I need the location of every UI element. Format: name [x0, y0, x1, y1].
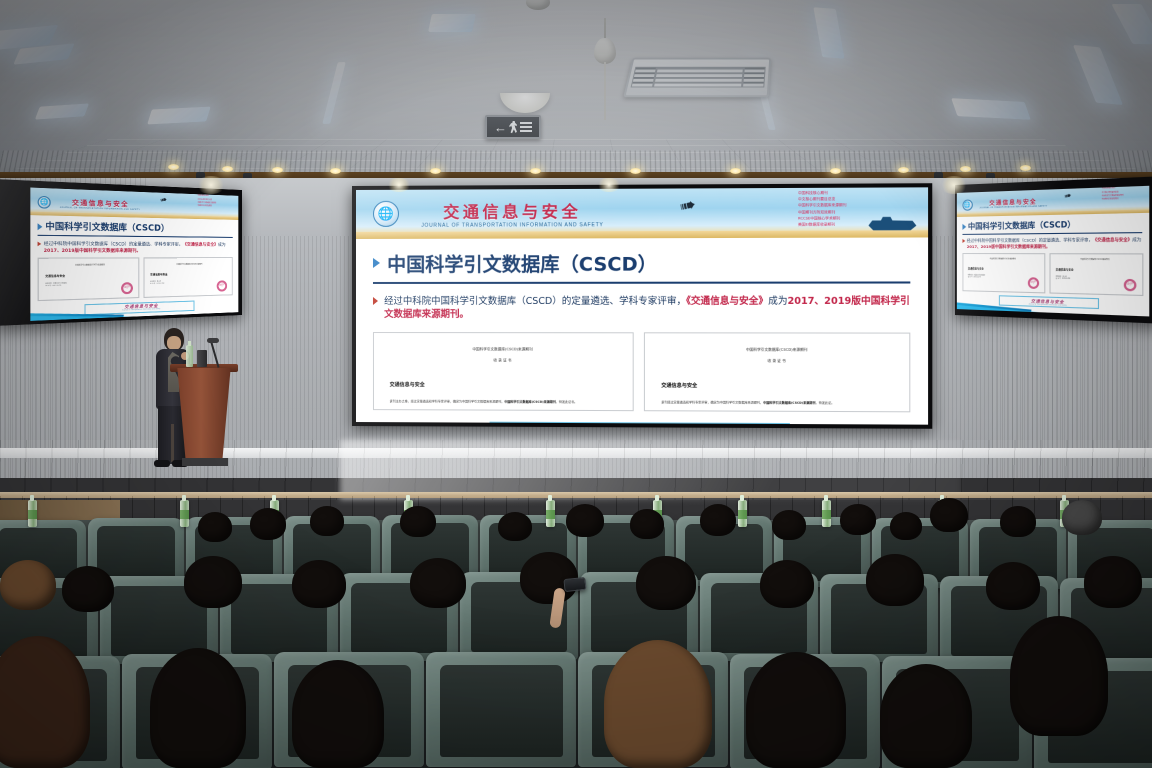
podium-base [182, 458, 228, 466]
title-underline [37, 235, 232, 238]
bottle-label [180, 510, 189, 519]
right-side-screen: 🌐 交通信息与安全 JOURNAL OF TRANSPORTATION INFO… [955, 176, 1152, 324]
slide-bullet-row: 经过中科院中国科学引文数据库（CSCD）的定量遴选、学科专家评审，《交通信息与安… [962, 237, 1143, 250]
certificate-header: 中国科学引文数据库(CSCD)来源期刊 [390, 347, 617, 352]
audience-head [760, 560, 814, 608]
certificate-subheader: 收 录 证 书 [661, 359, 893, 365]
water-bottle [180, 500, 189, 527]
audience-head [636, 556, 696, 610]
conference-hall-scene: ← 🌐 交通信息与安全 [0, 0, 1152, 768]
bird-graphic-icon: ➠ [159, 194, 168, 205]
red-line-item: 中文核心期刊要目总览 [798, 197, 846, 203]
journal-title-en: JOURNAL OF TRANSPORTATION INFORMATION AN… [421, 223, 603, 230]
water-bottle [28, 500, 37, 527]
bottle-label [738, 510, 747, 519]
certificate-row: 中国科学引文数据库(CSCD)来源期刊 收 录 证 书 交通信息与安全 贵刊主办… [373, 332, 911, 412]
cert-body-post: ，特发此证。 [816, 401, 835, 405]
title-underline [373, 282, 911, 285]
audience-head [400, 506, 436, 537]
bottle-label [546, 510, 555, 519]
audience-head [930, 498, 968, 532]
journal-nameplate: 交通信息与安全 Journal of Transportation Inform… [489, 422, 790, 425]
journal-nameplate: 交通信息与安全 Journal of Transportation Inform… [998, 296, 1099, 310]
bullet-part-1: 经过中科院中国科学引文数据库（CSCD）的定量遴选、学科专家评审， [384, 296, 686, 307]
bullet-part-2: 成为 [1132, 237, 1141, 243]
certificate-row: 中国科学引文数据库(CSCD)来源期刊 交通信息与安全 收录类别：中国科学引文数… [37, 257, 232, 301]
audience-head [986, 562, 1040, 610]
ceiling-downlight [730, 168, 741, 174]
bullet-emphasis-2: 2017、2019版中国科学引文数据库来源期刊。 [967, 243, 1050, 248]
certificate-body: 贵刊主办之卷，经过定量遴选和学科专家评审，确定为中国科学引文数据库来源期刊，中国… [390, 400, 617, 406]
red-line-item: 美国EI数据库收录期刊 [798, 222, 846, 227]
slide-title-row: 中国科学引文数据库（CSCD） [373, 249, 911, 277]
slide-title: 中国科学引文数据库（CSCD） [387, 249, 657, 277]
ceiling-downlight [960, 166, 971, 172]
red-line-item: RCCSE中国核心学术期刊 [798, 216, 846, 221]
podium-cup [197, 350, 207, 367]
slide-left-mirror: 🌐 交通信息与安全 JOURNAL OF TRANSPORTATION INFO… [30, 188, 238, 321]
journal-title-cn: 交通信息与安全 [421, 198, 603, 223]
seal-text: 中国科学院文献情报中心 [123, 286, 131, 291]
audience-head [604, 640, 712, 768]
audience-head [1084, 556, 1142, 608]
certificate-2019: 中国科学引文数据库(CSCD)来源期刊 交通信息与安全 收录类别：核心库 证 书… [1049, 253, 1143, 296]
audience-head [310, 506, 344, 536]
bullet-emphasis-1: 《交通信息与安全》 [686, 296, 768, 307]
seat [426, 652, 576, 767]
audience-head [292, 660, 384, 768]
bottle-label [822, 510, 831, 519]
audience-head [1010, 616, 1108, 736]
globe-glyph: 🌐 [40, 198, 49, 206]
audience-head [890, 512, 922, 540]
audience-head [630, 509, 664, 539]
audience-head [410, 558, 466, 608]
cert-body-emphasis: 中国科学引文数据库(CSCD)来源期刊 [763, 401, 816, 405]
left-side-screen: 🌐 交通信息与安全 JOURNAL OF TRANSPORTATION INFO… [0, 179, 242, 326]
banner-titles: 交通信息与安全 JOURNAL OF TRANSPORTATION INFORM… [979, 197, 1047, 209]
certificate-meta: 收录类别：中国科学引文数据库 证 书 号：2017-1-275 [45, 282, 132, 289]
cert-meta-item: 证 书 号：2017-1-275 [45, 285, 132, 289]
smartphone [563, 577, 586, 592]
bullet-part-2: 成为 [218, 242, 226, 247]
ceiling-downlight [330, 168, 341, 174]
ceiling-downlight [430, 168, 441, 174]
bullet-triangle-small-icon [37, 241, 41, 246]
certificate-recipient: 交通信息与安全 [45, 272, 132, 278]
certificate-2017: 中国科学引文数据库(CSCD)来源期刊 收 录 证 书 交通信息与安全 贵刊主办… [373, 332, 634, 411]
bottle-label [28, 510, 37, 519]
slide-bullet-text: 经过中科院中国科学引文数据库（CSCD）的定量遴选、学科专家评审，《交通信息与安… [967, 237, 1143, 250]
certificate-header: 中国科学引文数据库(CSCD)来源期刊 [1056, 259, 1136, 262]
slide-body: 中国科学引文数据库（CSCD） 经过中科院中国科学引文数据库（CSCD）的定量遴… [30, 216, 238, 321]
certificate-2017: 中国科学引文数据库(CSCD)来源期刊 交通信息与安全 收录类别：中国科学引文数… [37, 257, 139, 301]
slide-bullet-row: 经过中科院中国科学引文数据库（CSCD）的定量遴选、学科专家评审，《交通信息与安… [37, 240, 232, 253]
certificate-2017: 中国科学引文数据库(CSCD)来源期刊 交通信息与安全 收录类别：中国科学引文数… [962, 253, 1046, 293]
bullet-triangle-small-icon [373, 297, 378, 305]
banner-red-lines: 中国科技核心期刊 中文核心期刊要目总览 中国科学引文数据库来源期刊 中国期刊方阵… [798, 191, 846, 228]
red-line-item: 中国科技核心期刊 [798, 191, 846, 197]
red-line-item: 中国期刊方阵双效期刊 [798, 210, 846, 215]
globe-glyph: 🌐 [964, 201, 971, 208]
ceiling-downlight [830, 168, 841, 174]
journal-nameplate: 交通信息与安全 Journal of Transportation Inform… [85, 300, 194, 315]
certificate-2019: 中国科学引文数据库(CSCD)来源期刊 交通信息与安全 收录类别：核心库 证 书… [143, 257, 232, 298]
slide-title: 中国科学引文数据库（CSCD） [45, 220, 169, 234]
certificate-subheader: 收 录 证 书 [390, 358, 617, 364]
seat-cushion [440, 665, 563, 757]
slide-banner: 🌐 交通信息与安全 JOURNAL OF TRANSPORTATION INFO… [356, 187, 928, 238]
banner-titles: 交通信息与安全 JOURNAL OF TRANSPORTATION INFORM… [60, 196, 140, 211]
audience-head [292, 560, 346, 608]
cert-meta-item: 证 书 号：2019-2-318 [150, 283, 227, 287]
audience-head [150, 648, 246, 768]
banner-red-lines: 中国科技核心期刊 中文核心期刊要目总览 中国科学引文数据库来源期刊 中国期刊方阵… [197, 196, 216, 208]
ceiling-downlight [1020, 165, 1031, 171]
journal-logo-icon: 🌐 [962, 199, 972, 210]
audience-head [866, 554, 924, 606]
certificate-recipient: 交通信息与安全 [150, 271, 227, 276]
certificate-recipient: 交通信息与安全 [390, 381, 617, 389]
slide-bullet-row: 经过中科院中国科学引文数据库（CSCD）的定量遴选、学科专家评审，《交通信息与安… [373, 294, 911, 322]
globe-glyph: 🌐 [378, 206, 394, 222]
certificate-row: 中国科学引文数据库(CSCD)来源期刊 交通信息与安全 收录类别：中国科学引文数… [962, 253, 1143, 296]
certificate-header: 中国科学引文数据库(CSCD)来源期刊 [150, 263, 227, 266]
ceiling-downlight [222, 166, 233, 172]
water-bottle [546, 500, 555, 527]
podium-water-bottle [186, 345, 193, 367]
certificate-header: 中国科学引文数据库(CSCD)来源期刊 [968, 258, 1039, 260]
slide-bullet-text: 经过中科院中国科学引文数据库（CSCD）的定量遴选、学科专家评审，《交通信息与安… [384, 294, 910, 322]
ceiling-downlight [630, 168, 641, 174]
seal-text: 中国科学院文献情报中心 [1030, 281, 1038, 286]
audience-head [566, 504, 604, 537]
audience-head [498, 512, 532, 541]
audience-head [1000, 506, 1036, 537]
stage-floor-reflection [340, 440, 960, 500]
audience-head [840, 504, 876, 535]
ship-graphic-icon [868, 214, 916, 231]
certificate-meta: 收录类别：核心库 证 书 号：2019-2-318 [150, 281, 227, 287]
audience-head [772, 510, 806, 540]
water-bottle [822, 500, 831, 527]
slide-banner: 🌐 交通信息与安全 JOURNAL OF TRANSPORTATION INFO… [957, 186, 1149, 218]
slide-title: 中国科学引文数据库（CSCD） [968, 219, 1075, 232]
certificate-body: 贵刊经过定量遴选和学科专家评审，确定为中国科学引文数据库来源期刊，中国科学引文数… [661, 401, 893, 407]
audience-head [880, 664, 972, 768]
bullet-emphasis-2: 2017、2019版中国科学引文数据库来源期刊。 [44, 247, 141, 253]
cert-body-post: ，特发此证书。 [556, 400, 577, 404]
certificate-seal: 中国科学院文献情报中心 [1122, 278, 1136, 292]
slide-body: 中国科学引文数据库（CSCD） 经过中科院中国科学引文数据库（CSCD）的定量遴… [957, 213, 1149, 316]
journal-logo-icon: 🌐 [373, 201, 399, 227]
certificate-header: 中国科学引文数据库(CSCD)来源期刊 [45, 263, 132, 266]
bullet-part-1: 经过中科院中国科学引文数据库（CSCD）的定量遴选、学科专家评审， [44, 240, 183, 246]
audience-head [700, 504, 736, 536]
audience-head [62, 566, 114, 612]
cert-body-pre: 贵刊主办之卷，经过定量遴选和学科专家评审，确定为中国科学引文数据库来源期刊， [390, 400, 505, 404]
banner-red-lines: 中国科技核心期刊 中文核心期刊要目总览 中国科学引文数据库来源期刊 中国期刊方阵… [1102, 188, 1124, 201]
cert-body-emphasis: 中国科学引文数据库(CSCD)来源期刊 [504, 400, 556, 404]
slide-body: 中国科学引文数据库（CSCD） 经过中科院中国科学引文数据库（CSCD）的定量遴… [356, 237, 928, 424]
slide-bullet-text: 经过中科院中国科学引文数据库（CSCD）的定量遴选、学科专家评审，《交通信息与安… [44, 240, 233, 253]
red-line-item: 中国科学引文数据库来源期刊 [798, 203, 846, 208]
seal-text: 中国科学院文献情报中心 [1125, 283, 1134, 288]
red-line-item: 中国期刊方阵双效期刊 [1102, 199, 1124, 202]
cert-body-pre: 贵刊经过定量遴选和学科专家评审，确定为中国科学引文数据库来源期刊， [661, 401, 763, 405]
presenter-leg-gap [171, 424, 174, 462]
bullet-part-2: 成为 [768, 295, 787, 306]
slide-main: 🌐 交通信息与安全 JOURNAL OF TRANSPORTATION INFO… [356, 187, 928, 424]
bird-graphic-icon: ➠ [677, 193, 698, 219]
ceiling-downlight [898, 167, 909, 173]
red-line-item: 中国期刊方阵双效期刊 [197, 205, 216, 208]
audience-head [184, 556, 242, 608]
certificate-2019: 中国科学引文数据库(CSCD)来源期刊 收 录 证 书 交通信息与安全 贵刊经过… [644, 333, 910, 413]
main-projection-screen: 🌐 交通信息与安全 JOURNAL OF TRANSPORTATION INFO… [352, 183, 932, 429]
audience-head [250, 508, 286, 540]
bird-graphic-icon: ➠ [1063, 190, 1072, 201]
journal-title-en: JOURNAL OF TRANSPORTATION INFORMATION AN… [979, 206, 1047, 210]
presenter-shoe [154, 460, 170, 467]
bullet-part-1: 经过中科院中国科学引文数据库（CSCD）的定量遴选、学科专家评审， [967, 237, 1093, 243]
audience-head [746, 652, 846, 768]
certificate-recipient: 交通信息与安全 [968, 266, 1039, 271]
bullet-emphasis-1: 《交通信息与安全》 [183, 241, 218, 246]
ceiling-downlight [272, 167, 283, 173]
bullet-triangle-small-icon [962, 239, 965, 243]
microphone-head-icon [207, 338, 219, 343]
bullet-triangle-icon [373, 258, 380, 268]
slide-title-row: 中国科学引文数据库（CSCD） [37, 220, 232, 235]
certificate-header: 中国科学引文数据库(CSCD)来源期刊 [661, 347, 893, 352]
journal-logo-icon: 🌐 [37, 195, 50, 208]
slide-right-mirror: 🌐 交通信息与安全 JOURNAL OF TRANSPORTATION INFO… [957, 186, 1149, 317]
title-underline [962, 232, 1143, 235]
slide-title-row: 中国科学引文数据库（CSCD） [962, 217, 1143, 231]
audience-head [0, 560, 56, 610]
ceiling-downlight [530, 168, 541, 174]
certificate-seal: 中国科学院文献情报中心 [216, 280, 228, 293]
audience-head [1062, 500, 1102, 535]
water-bottle [738, 500, 747, 527]
audience-head [198, 512, 232, 542]
bullet-triangle-icon [37, 223, 42, 230]
ceiling-downlight [168, 164, 179, 170]
seat-cushion [97, 526, 176, 582]
certificate-recipient: 交通信息与安全 [1056, 267, 1136, 272]
banner-titles: 交通信息与安全 JOURNAL OF TRANSPORTATION INFORM… [421, 198, 603, 229]
bullet-emphasis-1: 《交通信息与安全》 [1093, 237, 1132, 243]
seal-text: 中国科学院文献情报中心 [219, 284, 226, 289]
bullet-triangle-icon [962, 223, 966, 229]
certificate-recipient: 交通信息与安全 [661, 382, 893, 390]
presenter-face [167, 336, 181, 350]
